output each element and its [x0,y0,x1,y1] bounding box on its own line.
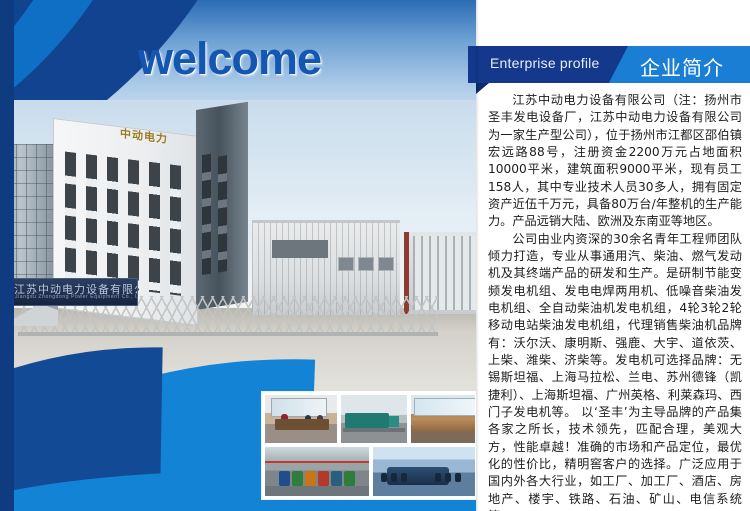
generator-workshop-photo [340,394,408,444]
section-title-english: Enterprise profile [490,55,599,71]
left-visual-panel: 中动电力 江苏中动电力设备有限公司 Jiangsu Zhongdong Powe… [0,0,476,511]
right-content-panel: Enterprise profile 企业简介 江苏中动电力设备有限公司（注：扬… [476,0,750,511]
profile-paragraph-1: 江苏中动电力设备有限公司（注：扬州市圣丰发电设备厂，江苏中动电力设备有限公司为一… [488,92,742,231]
warehouse-window [338,257,354,271]
building-side-wing [196,102,248,310]
warehouse-window [378,257,394,271]
office-meeting-photo [264,394,338,444]
company-profile-page: 中动电力 江苏中动电力设备有限公司 Jiangsu Zhongdong Powe… [0,0,750,511]
panel-divider-shadow [476,0,479,511]
profile-paragraph-2: 公司由业内资深的30余名青年工程师团队倾力打造，专业从事通用汽、柴油、燃气发动机… [488,231,742,511]
welcome-heading: welcome [138,36,321,81]
section-title-chinese: 企业简介 [640,52,724,81]
office-cubicles-photo [410,394,476,444]
company-gate-signboard: 江苏中动电力设备有限公司 Jiangsu Zhongdong Power Equ… [8,278,138,306]
factory-floor-generators-photo [264,446,370,497]
left-edge-navy-band [0,0,14,511]
gate-sign-english-text: Jiangsu Zhongdong Power Equipment Co., L… [15,294,138,300]
company-profile-text: 江苏中动电力设备有限公司（注：扬州市圣丰发电设备厂，江苏中动电力设备有限公司为一… [488,92,742,492]
warehouse-window [358,257,374,271]
photo-thumbnail-grid [262,392,476,499]
conference-room-photo [372,446,476,497]
warehouse-door [272,240,328,258]
section-header-bar: Enterprise profile 企业简介 [476,46,750,83]
